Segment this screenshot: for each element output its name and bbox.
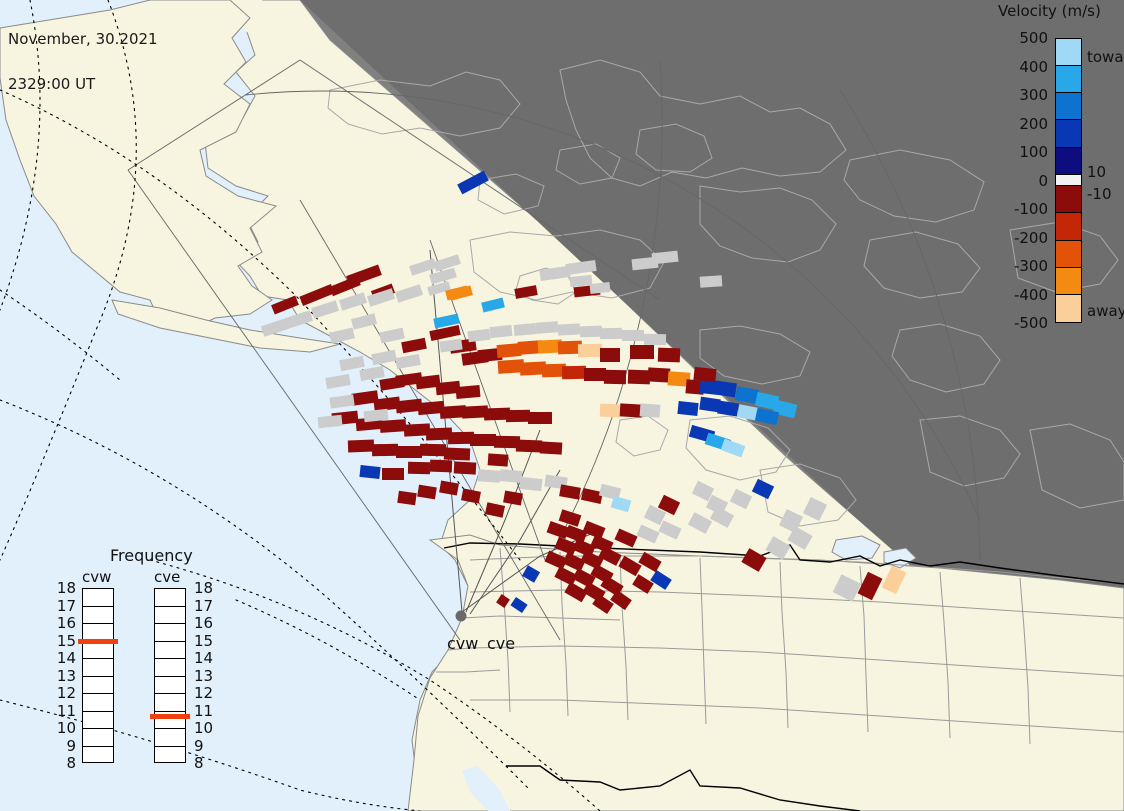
radar-cell[interactable]: [528, 412, 552, 424]
radar-cell[interactable]: [648, 367, 671, 382]
velocity-tick-300: 300: [1019, 86, 1048, 104]
radar-cell[interactable]: [644, 334, 666, 345]
velocity-tick--100: -100: [1014, 200, 1048, 218]
radar-cell[interactable]: [700, 275, 723, 288]
radar-cell[interactable]: [420, 444, 446, 456]
frequency-radar-name-cvw: cvw: [82, 568, 111, 586]
radar-cell[interactable]: [456, 385, 481, 399]
radar-cell[interactable]: [519, 477, 542, 491]
frequency-scale-label-cvw-11: 11: [52, 702, 76, 720]
frequency-scale-label-cvw-14: 14: [52, 649, 76, 667]
velocity-tick-100: 100: [1019, 143, 1048, 161]
frequency-scale-label-cvw-17: 17: [52, 597, 76, 615]
velocity-segment-10: [1056, 295, 1081, 322]
frequency-bar-cvw[interactable]: [82, 588, 114, 763]
velocity-colorbar: Velocity (m/s) 5004003002001000-100-200-…: [988, 0, 1124, 340]
velocity-inner-high-label: 10: [1087, 163, 1106, 181]
radar-cell[interactable]: [408, 462, 430, 474]
frequency-scale-label-cve-18: 18: [194, 579, 213, 597]
radar-cell[interactable]: [488, 453, 509, 466]
frequency-scale-label-cvw-10: 10: [52, 719, 76, 737]
frequency-scale-label-cve-8: 8: [194, 754, 204, 772]
frequency-bar-cve[interactable]: [154, 588, 186, 763]
frequency-cell: [155, 607, 185, 625]
velocity-tick-200: 200: [1019, 115, 1048, 133]
frequency-cell: [83, 677, 113, 695]
frequency-cell: [155, 729, 185, 747]
radar-cell[interactable]: [444, 448, 470, 461]
radar-cell[interactable]: [562, 366, 586, 379]
radar-cell[interactable]: [604, 370, 626, 384]
radar-cell[interactable]: [478, 469, 501, 483]
time-label: 2329:00 UT: [8, 77, 158, 92]
frequency-cell: [155, 677, 185, 695]
frequency-scale-label-cve-17: 17: [194, 597, 213, 615]
map-site-label-cvw: cvw: [447, 634, 478, 653]
radar-cell[interactable]: [514, 323, 537, 336]
frequency-cell: [155, 659, 185, 677]
radar-cell[interactable]: [578, 344, 602, 357]
velocity-toward-label: toward: [1087, 48, 1124, 66]
velocity-segment-9: [1056, 268, 1081, 295]
velocity-colorbar-title: Velocity (m/s): [998, 2, 1101, 20]
date-label: November, 30.2021: [8, 32, 158, 47]
frequency-scale-label-cve-13: 13: [194, 667, 213, 685]
velocity-color-strip[interactable]: [1055, 38, 1082, 323]
frequency-cell: [155, 642, 185, 660]
frequency-scale-label-cve-10: 10: [194, 719, 213, 737]
radar-cell[interactable]: [506, 410, 530, 422]
velocity-segment-1: [1056, 66, 1081, 93]
radar-cell[interactable]: [536, 321, 559, 334]
map-site-label-cve: cve: [487, 634, 515, 653]
radar-cell[interactable]: [693, 367, 716, 382]
velocity-tick-0: 0: [1038, 172, 1048, 190]
velocity-segment-0: [1056, 39, 1081, 66]
velocity-tick-500: 500: [1019, 29, 1048, 47]
frequency-cell: [83, 747, 113, 765]
frequency-scale-label-cvw-18: 18: [52, 579, 76, 597]
frequency-cell: [83, 729, 113, 747]
radar-cell[interactable]: [580, 326, 602, 338]
velocity-away-label: away: [1087, 302, 1124, 320]
radar-cell[interactable]: [348, 440, 374, 453]
superdarn-velocity-map: November, 30.2021 2329:00 UT Velocity (m…: [0, 0, 1124, 811]
radar-cell[interactable]: [396, 446, 422, 458]
radar-cell[interactable]: [430, 460, 452, 473]
frequency-marker-cvw: [78, 639, 118, 644]
frequency-legend: Frequency cvw18171615141312111098cve1817…: [82, 546, 242, 786]
radar-cell[interactable]: [584, 368, 606, 381]
radar-cell[interactable]: [600, 328, 622, 339]
west-coast-land: [408, 535, 1124, 811]
radar-cell[interactable]: [359, 465, 380, 479]
frequency-scale-label-cve-14: 14: [194, 649, 213, 667]
frequency-cell: [83, 589, 113, 607]
radar-cell[interactable]: [622, 330, 644, 341]
frequency-legend-title: Frequency: [110, 546, 193, 565]
radar-cell[interactable]: [558, 323, 581, 335]
frequency-scale-label-cvw-15: 15: [52, 632, 76, 650]
velocity-tick-400: 400: [1019, 58, 1048, 76]
radar-cell[interactable]: [380, 419, 407, 433]
velocity-tick--500: -500: [1014, 314, 1048, 332]
frequency-radar-name-cve: cve: [154, 568, 180, 586]
radar-cell[interactable]: [540, 441, 563, 454]
frequency-scale-label-cve-15: 15: [194, 632, 213, 650]
frequency-cell: [83, 607, 113, 625]
frequency-marker-cve: [150, 714, 190, 719]
velocity-segment-3: [1056, 120, 1081, 147]
radar-cell[interactable]: [699, 397, 721, 413]
radar-cell[interactable]: [372, 444, 398, 456]
velocity-tick--200: -200: [1014, 229, 1048, 247]
frequency-scale-label-cve-16: 16: [194, 614, 213, 632]
frequency-scale-label-cvw-9: 9: [52, 737, 76, 755]
radar-cell[interactable]: [677, 401, 698, 416]
radar-cell[interactable]: [640, 403, 661, 417]
radar-cell[interactable]: [715, 381, 737, 398]
frequency-cell: [155, 624, 185, 642]
velocity-inner-low-label: -10: [1087, 185, 1112, 203]
frequency-cell: [83, 659, 113, 677]
radar-cell[interactable]: [496, 343, 521, 358]
frequency-cell: [155, 694, 185, 712]
radar-cell[interactable]: [620, 403, 643, 417]
frequency-cell: [83, 712, 113, 730]
radar-cell[interactable]: [630, 345, 654, 359]
velocity-segment-6: [1056, 186, 1081, 213]
frequency-scale-label-cvw-16: 16: [52, 614, 76, 632]
velocity-segment-4: [1056, 148, 1081, 175]
velocity-segment-2: [1056, 93, 1081, 120]
frequency-scale-label-cvw-12: 12: [52, 684, 76, 702]
velocity-segment-5: [1056, 175, 1081, 187]
velocity-tick--300: -300: [1014, 257, 1048, 275]
radar-cell[interactable]: [628, 370, 650, 385]
frequency-cell: [155, 747, 185, 765]
radar-cell[interactable]: [590, 282, 611, 294]
radar-cell[interactable]: [500, 469, 523, 483]
velocity-tick--400: -400: [1014, 286, 1048, 304]
timestamp-block: November, 30.2021 2329:00 UT: [8, 2, 158, 122]
frequency-scale-label-cve-12: 12: [194, 684, 213, 702]
radar-cell[interactable]: [382, 468, 404, 480]
radar-site-marker: [456, 611, 467, 622]
radar-cell[interactable]: [454, 461, 477, 474]
frequency-cell: [155, 589, 185, 607]
frequency-scale-label-cve-9: 9: [194, 737, 204, 755]
radar-cell[interactable]: [658, 348, 680, 363]
frequency-scale-label-cvw-8: 8: [52, 754, 76, 772]
velocity-segment-8: [1056, 241, 1081, 268]
frequency-cell: [83, 642, 113, 660]
radar-cell[interactable]: [516, 440, 542, 453]
frequency-scale-label-cve-11: 11: [194, 702, 213, 720]
frequency-cell: [83, 694, 113, 712]
radar-cell[interactable]: [470, 434, 496, 446]
radar-cell[interactable]: [600, 404, 620, 418]
radar-cell[interactable]: [397, 491, 416, 505]
frequency-scale-label-cvw-13: 13: [52, 667, 76, 685]
velocity-segment-7: [1056, 213, 1081, 240]
radar-cell[interactable]: [600, 348, 620, 362]
radar-cell[interactable]: [489, 325, 512, 338]
